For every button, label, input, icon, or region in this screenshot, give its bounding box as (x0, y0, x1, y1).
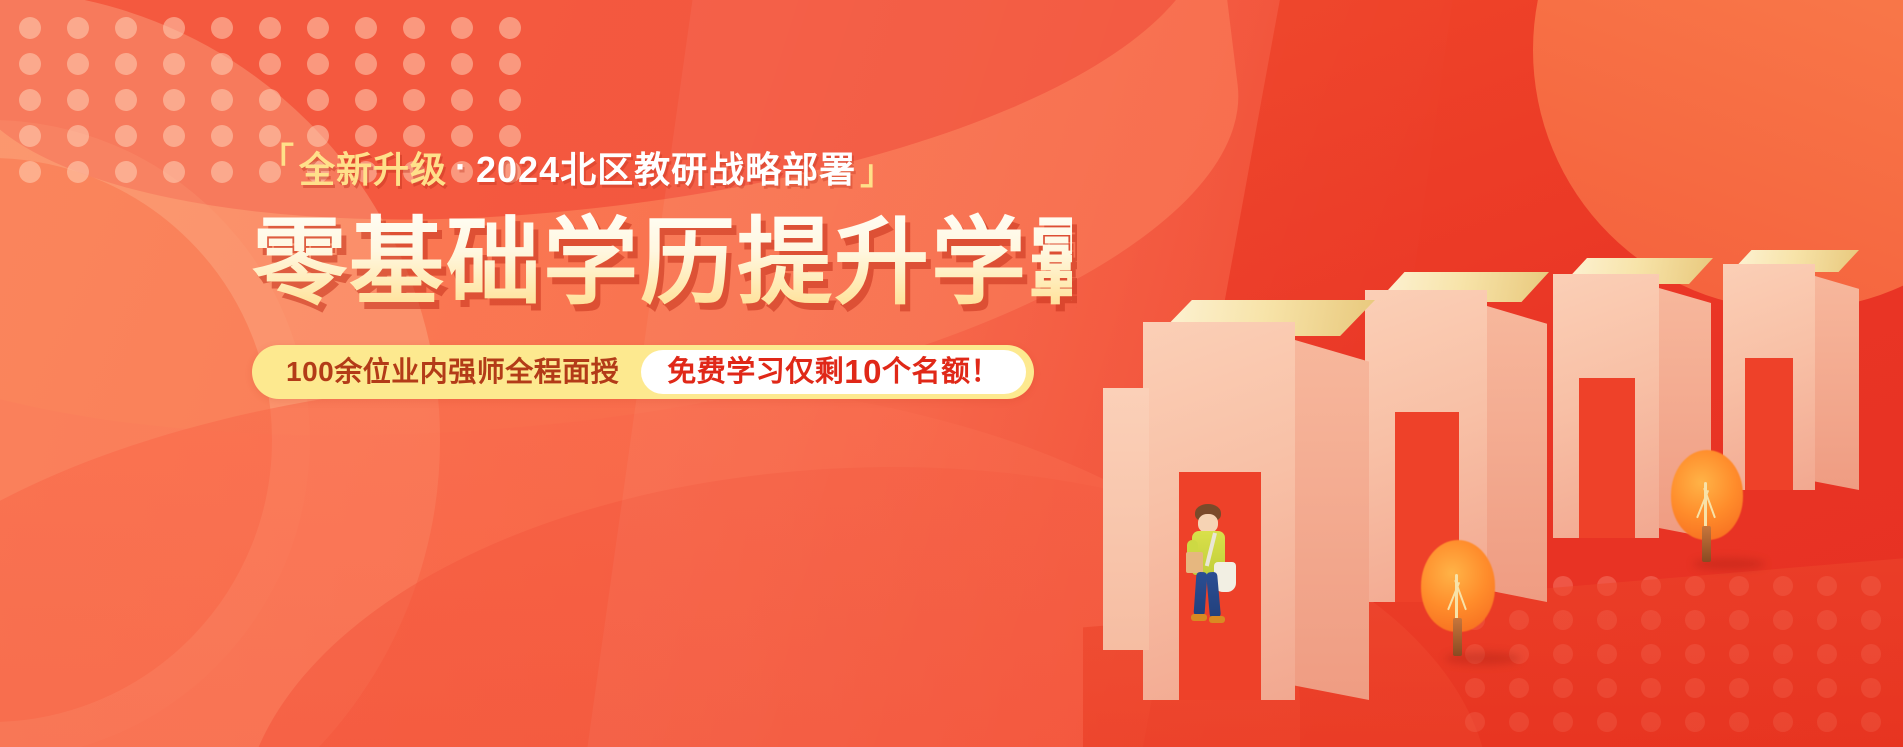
dot (211, 89, 233, 111)
dot (499, 17, 521, 39)
dot-grid-row (6, 46, 534, 82)
dot (115, 17, 137, 39)
dot (163, 161, 185, 183)
dot (19, 125, 41, 147)
dot (307, 53, 329, 75)
dot (451, 17, 473, 39)
dot (259, 53, 281, 75)
promo-banner: 「 全新升级 · 2024北区教研战略部署 」 零基础学历提升学霸班 100余位… (0, 0, 1903, 747)
dot (307, 17, 329, 39)
dot (499, 89, 521, 111)
dot (211, 17, 233, 39)
dot (115, 89, 137, 111)
tree-left-trunk (1453, 618, 1462, 656)
dot (451, 53, 473, 75)
subtitle-line: 「 全新升级 · 2024北区教研战略部署 」 (252, 140, 1072, 194)
dot (67, 17, 89, 39)
dot (19, 89, 41, 111)
subtitle-separator-dot: · (455, 146, 468, 188)
tree-right (1671, 450, 1771, 580)
dot (499, 53, 521, 75)
badge-group: 100余位业内强师全程面授 免费学习仅剩 10 个名额！ (252, 345, 1034, 399)
dot (19, 53, 41, 75)
dot (163, 53, 185, 75)
book-arch-1 (1143, 300, 1393, 700)
dot (211, 53, 233, 75)
student-book (1186, 552, 1203, 573)
illustration-group (1083, 0, 1903, 747)
dot (355, 89, 377, 111)
dot (451, 89, 473, 111)
student-shoe-left (1191, 614, 1207, 621)
student-figure (1181, 504, 1251, 624)
dot (403, 17, 425, 39)
bracket-close-icon: 」 (860, 156, 895, 190)
dot (259, 89, 281, 111)
badge-seats-number: 10 (844, 350, 882, 394)
dot (403, 53, 425, 75)
dot (115, 125, 137, 147)
book-door-panel (1103, 388, 1149, 650)
subtitle-white-text: 2024北区教研战略部署 (476, 141, 856, 193)
tree-right-trunk (1702, 526, 1711, 562)
dot (355, 53, 377, 75)
dot (115, 53, 137, 75)
dot (67, 53, 89, 75)
dot (163, 17, 185, 39)
bracket-open-icon: 「 (260, 144, 295, 178)
student-leg-left (1193, 572, 1207, 617)
tree-left (1421, 540, 1521, 670)
badge-seats-prefix: 免费学习仅剩 (667, 350, 844, 394)
badge-seats-suffix: 个名额！ (882, 350, 1000, 394)
dot (403, 89, 425, 111)
student-shoe-right (1209, 616, 1225, 623)
dot (211, 161, 233, 183)
page-title: 零基础学历提升学霸班 (252, 212, 1072, 315)
dot (307, 89, 329, 111)
dot (67, 89, 89, 111)
dot (67, 125, 89, 147)
dot-grid-row (6, 82, 534, 118)
dot (19, 17, 41, 39)
dot (259, 17, 281, 39)
subtitle-gold-text: 全新升级 (299, 141, 447, 193)
text-content-block: 「 全新升级 · 2024北区教研战略部署 」 零基础学历提升学霸班 100余位… (252, 140, 1072, 399)
dot (211, 125, 233, 147)
badge-seats-remaining: 免费学习仅剩 10 个名额！ (641, 350, 1026, 394)
dot (163, 125, 185, 147)
dot (67, 161, 89, 183)
dot (355, 17, 377, 39)
dot (163, 89, 185, 111)
badge-teachers-label: 100余位业内强师全程面授 (252, 345, 641, 399)
dot-grid-row (6, 10, 534, 46)
dot (19, 161, 41, 183)
dot (115, 161, 137, 183)
